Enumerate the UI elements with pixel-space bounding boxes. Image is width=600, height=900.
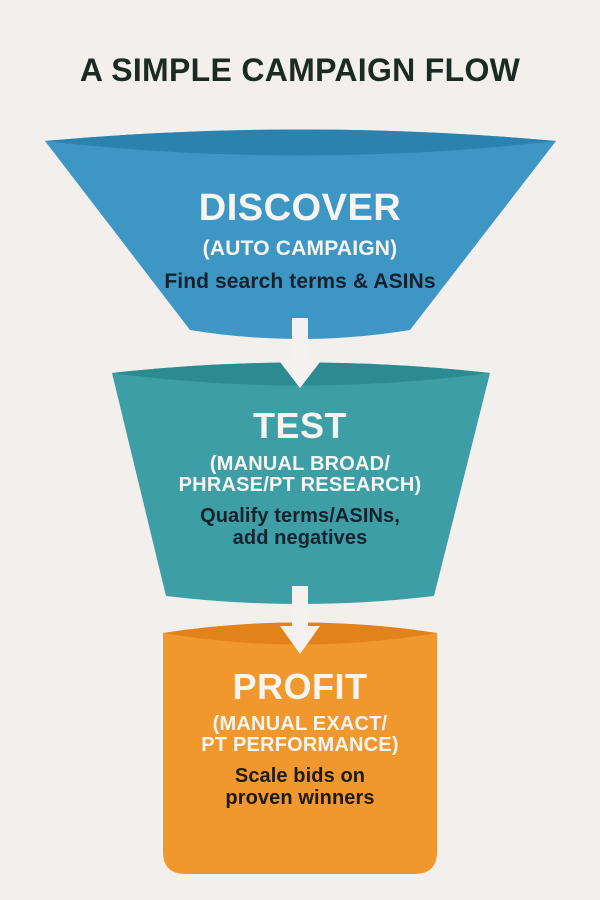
- funnel-stage-profit-body: [163, 623, 437, 875]
- funnel-shapes: [0, 0, 600, 900]
- funnel-stage-discover-body: [45, 130, 556, 340]
- funnel-stage-test-body: [112, 363, 490, 605]
- funnel-stage-test[interactable]: [112, 363, 490, 605]
- funnel-stage-profit[interactable]: [163, 623, 437, 875]
- funnel-stage-discover[interactable]: [45, 130, 556, 340]
- funnel-diagram-canvas: A SIMPLE CAMPAIGN FLOW: [0, 0, 600, 900]
